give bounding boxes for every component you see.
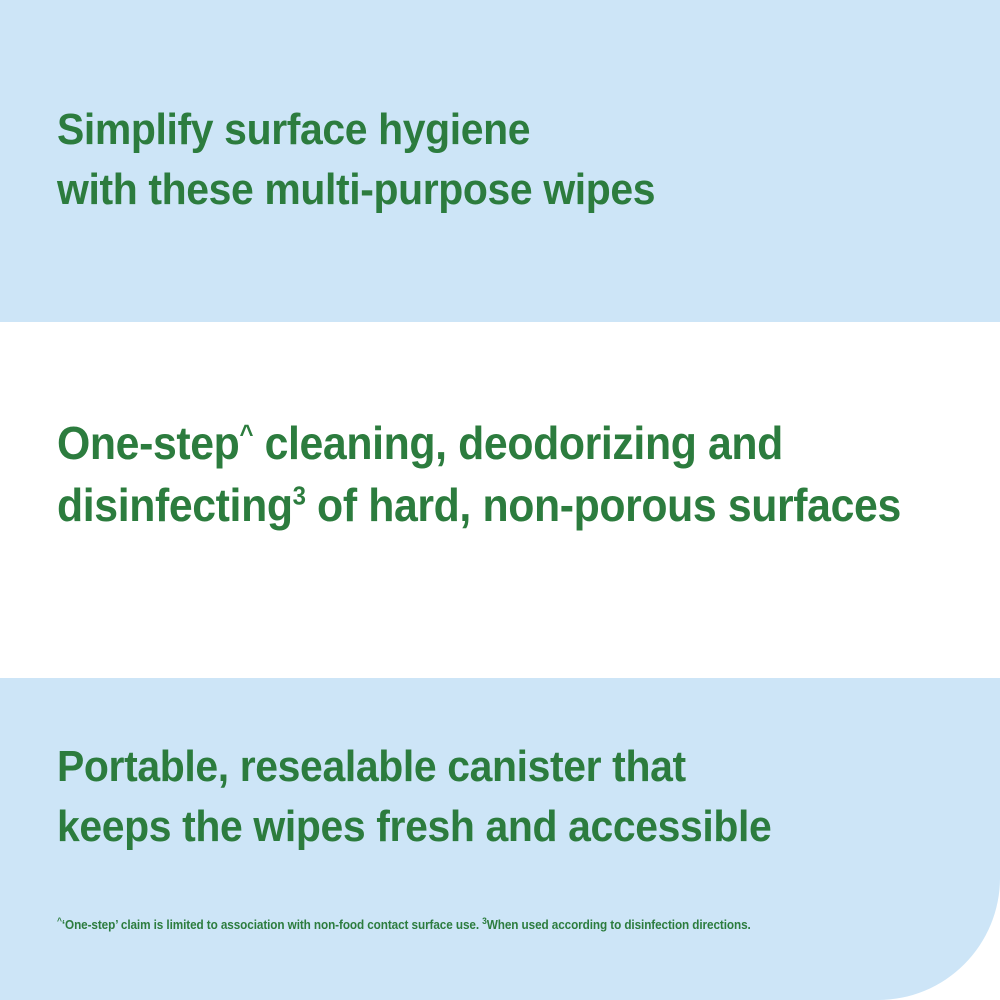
feature-2-heading: One-step^ cleaning, deodorizing and disi… (57, 412, 950, 536)
footnote-marker-caret: ^ (239, 421, 253, 449)
footnote-text-part-1: ‘One-step’ claim is limited to associati… (62, 918, 482, 932)
footnote-text-part-2: When used according to disinfection dire… (487, 918, 751, 932)
feature-3-heading-line-2: keeps the wipes fresh and accessible (57, 802, 771, 851)
footnote-marker-three: 3 (293, 483, 306, 511)
promo-poster: Simplify surface hygiene with these mult… (0, 0, 1000, 1000)
footnote-disclaimer: ^‘One-step’ claim is limited to associat… (57, 916, 809, 935)
feature-1-heading-line-1: Simplify surface hygiene (57, 105, 530, 154)
feature-1-heading: Simplify surface hygiene with these mult… (57, 100, 950, 220)
feature-2-heading-part-1: One-step (57, 417, 239, 469)
feature-3-heading-line-1: Portable, resealable canister that (57, 742, 686, 791)
feature-1-heading-line-2: with these multi-purpose wipes (57, 165, 655, 214)
feature-2-heading-part-3: of hard, non-porous surfaces (306, 479, 901, 531)
feature-3-heading: Portable, resealable canister that keeps… (57, 737, 950, 857)
